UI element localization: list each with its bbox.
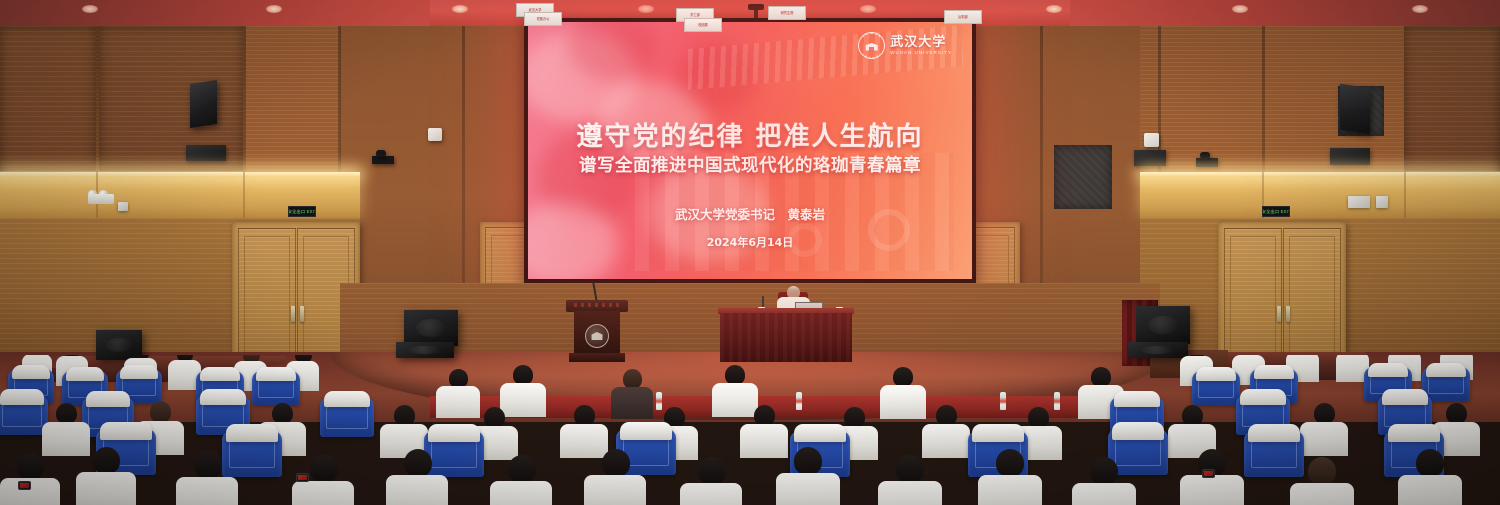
audience-member bbox=[560, 405, 608, 453]
security-camera-left bbox=[372, 156, 394, 164]
university-wordmark: 武汉大学 WUHAN UNIVERSITY bbox=[890, 36, 952, 55]
person-body bbox=[386, 475, 448, 505]
acoustic-panel-left bbox=[1054, 145, 1112, 209]
audience-member bbox=[584, 449, 646, 505]
person-head bbox=[1091, 367, 1111, 387]
person-head bbox=[93, 447, 120, 474]
emblem-gate-icon bbox=[591, 332, 604, 340]
person-head bbox=[936, 405, 957, 426]
person-body bbox=[1180, 475, 1244, 505]
name-card-label: 研究生院 bbox=[781, 11, 794, 16]
person-body bbox=[584, 475, 646, 505]
door-handle-left-a[interactable] bbox=[291, 306, 295, 322]
seat-headrest bbox=[794, 424, 846, 442]
lectern bbox=[566, 300, 628, 362]
audience-member bbox=[490, 455, 552, 505]
security-camera-right bbox=[1196, 158, 1218, 167]
name-card: 研究生院 bbox=[768, 6, 806, 20]
seat-headrest bbox=[12, 365, 50, 379]
lectern-university-emblem-icon bbox=[585, 324, 609, 348]
seat-headrest bbox=[86, 391, 130, 407]
name-card-label: 校团委 bbox=[698, 23, 708, 28]
door-handle-right-a[interactable] bbox=[1277, 306, 1281, 322]
person-body bbox=[1290, 483, 1354, 505]
person-body bbox=[1072, 483, 1136, 505]
wall-monitor-left bbox=[186, 145, 226, 161]
door-right-leaf-a[interactable] bbox=[1224, 228, 1282, 366]
person-body bbox=[776, 473, 840, 505]
audience-area bbox=[0, 355, 1500, 505]
seat-headrest bbox=[1426, 363, 1466, 377]
auditorium-photo: 安全出口 EXIT 安全出口 EXIT bbox=[0, 0, 1500, 505]
wall-panel-left bbox=[0, 26, 96, 171]
ceiling-left-shadow bbox=[0, 0, 430, 26]
smartphone-recording[interactable] bbox=[1202, 469, 1215, 478]
door-handle-right-b[interactable] bbox=[1286, 306, 1290, 322]
person-body bbox=[1300, 422, 1348, 456]
audience-member bbox=[922, 405, 970, 453]
person-body bbox=[922, 424, 970, 458]
name-card: 党委办公 bbox=[524, 12, 562, 26]
ceiling-downlight bbox=[1412, 5, 1428, 13]
ceiling-downlight bbox=[452, 5, 468, 13]
front-row-member bbox=[610, 369, 654, 415]
person-body bbox=[680, 483, 742, 505]
university-name-cn: 武汉大学 bbox=[890, 36, 952, 49]
ceiling-downlight bbox=[638, 5, 654, 13]
exit-sign-left[interactable]: 安全出口 EXIT bbox=[288, 206, 316, 217]
wall-monitor-far-right bbox=[1330, 148, 1370, 165]
person-head bbox=[1028, 407, 1049, 428]
wall-sensor-right bbox=[1144, 133, 1159, 147]
seat-headrest bbox=[1368, 363, 1408, 377]
wall-plate-right bbox=[1348, 196, 1370, 208]
audience-member bbox=[878, 455, 942, 505]
front-row-member bbox=[880, 367, 926, 415]
slide-title: 遵守党的纪律 把准人生航向 bbox=[528, 116, 972, 153]
slide-speaker: 武汉大学党委书记 黄泰岩 bbox=[528, 204, 972, 223]
audience-member bbox=[1168, 405, 1216, 453]
name-card-label: 后勤部 bbox=[958, 15, 968, 20]
led-highlight-left bbox=[0, 172, 360, 176]
seat-headrest bbox=[256, 367, 296, 381]
person-head bbox=[194, 451, 222, 479]
person-head bbox=[794, 447, 822, 475]
exit-sign-right[interactable]: 安全出口 EXIT bbox=[1262, 206, 1290, 217]
person-head bbox=[508, 455, 536, 483]
audience-member bbox=[1290, 457, 1354, 505]
ceiling-downlight bbox=[1232, 5, 1248, 13]
led-strip-right bbox=[1140, 172, 1500, 218]
seat-headrest bbox=[200, 389, 246, 405]
ceiling-downlight bbox=[266, 5, 282, 13]
person-body bbox=[490, 481, 552, 505]
person-head bbox=[1182, 405, 1203, 426]
university-seal-icon bbox=[858, 32, 885, 59]
seat-headrest bbox=[1254, 365, 1294, 379]
audience-member bbox=[76, 447, 136, 505]
person-head bbox=[56, 403, 77, 424]
seat-headrest bbox=[324, 391, 370, 407]
person-head bbox=[394, 405, 415, 426]
audience-member bbox=[740, 405, 788, 453]
led-highlight-right bbox=[1140, 172, 1500, 176]
emergency-light-left bbox=[88, 190, 114, 204]
audience-member bbox=[42, 403, 90, 451]
led-seam bbox=[1404, 172, 1406, 218]
seat-headrest bbox=[1248, 424, 1300, 442]
audience-member bbox=[1072, 457, 1136, 505]
wall-monitor-right bbox=[1134, 150, 1166, 166]
seat-headrest bbox=[1196, 367, 1236, 381]
person-body bbox=[878, 481, 942, 505]
wall-speaker-right-upper bbox=[1340, 84, 1370, 135]
audience-member bbox=[1398, 449, 1462, 505]
seat-headrest bbox=[226, 424, 278, 442]
wuhan-university-logo: 武汉大学 WUHAN UNIVERSITY bbox=[858, 32, 952, 59]
person-head bbox=[623, 369, 642, 389]
person-body bbox=[176, 477, 238, 505]
person-body bbox=[76, 472, 136, 505]
led-seam bbox=[243, 172, 245, 218]
audience-member bbox=[386, 449, 448, 505]
front-row-member bbox=[500, 365, 546, 413]
person-head bbox=[725, 365, 745, 385]
slide-canvas: 武汉大学 WUHAN UNIVERSITY 遵守党的纪律 把准人生航向 谱写全面… bbox=[528, 22, 972, 279]
ceiling-downlight bbox=[82, 5, 98, 13]
audience-member bbox=[380, 405, 428, 453]
seat-headrest bbox=[1388, 424, 1440, 442]
person-head bbox=[1416, 449, 1444, 477]
exit-sign-label: 安全出口 EXIT bbox=[288, 209, 316, 215]
person-head bbox=[513, 365, 533, 385]
door-handle-left-b[interactable] bbox=[300, 306, 304, 322]
head-table bbox=[718, 308, 854, 362]
seat-headrest bbox=[100, 422, 152, 440]
person-head bbox=[272, 403, 293, 424]
person-head bbox=[1314, 403, 1335, 424]
floor-subwoofer-right bbox=[1136, 306, 1190, 344]
door-left-leaf-a[interactable] bbox=[238, 228, 296, 366]
seat-headrest bbox=[972, 424, 1024, 442]
seat-headrest bbox=[200, 367, 240, 381]
person-head bbox=[484, 407, 505, 428]
audience-member bbox=[680, 457, 742, 505]
name-card: 后勤部 bbox=[944, 10, 982, 24]
audience-member bbox=[0, 453, 60, 505]
wall-speaker-left-upper bbox=[190, 80, 217, 128]
university-name-en: WUHAN UNIVERSITY bbox=[890, 51, 952, 55]
seat-headrest bbox=[120, 365, 158, 379]
person-body bbox=[611, 387, 653, 419]
person-head bbox=[574, 405, 595, 426]
person-head bbox=[698, 457, 726, 485]
person-head bbox=[844, 407, 865, 428]
led-display-screen: 武汉大学 WUHAN UNIVERSITY 遵守党的纪律 把准人生航向 谱写全面… bbox=[524, 18, 976, 283]
person-head bbox=[310, 455, 338, 483]
door-right-leaf-b[interactable] bbox=[1283, 228, 1341, 366]
exit-sign-label: 安全出口 EXIT bbox=[1262, 209, 1290, 215]
ceiling-downlight bbox=[1046, 5, 1062, 13]
seat-headrest bbox=[1114, 391, 1160, 407]
person-head bbox=[17, 453, 44, 480]
person-head bbox=[602, 449, 630, 477]
seal-gate-icon bbox=[864, 41, 879, 51]
person-head bbox=[896, 455, 924, 483]
wall-plate-left bbox=[118, 202, 128, 211]
seat-headrest bbox=[620, 422, 672, 440]
person-body bbox=[1398, 475, 1462, 505]
audience-member bbox=[1300, 403, 1348, 451]
seat-headrest bbox=[1112, 422, 1164, 440]
ceiling-downlight bbox=[860, 5, 876, 13]
floor-subwoofer-left bbox=[404, 310, 458, 346]
person-body bbox=[880, 385, 926, 419]
person-head bbox=[1308, 457, 1336, 485]
person-head bbox=[150, 401, 171, 423]
person-head bbox=[893, 367, 913, 387]
ceiling-right-shadow bbox=[1070, 0, 1500, 26]
name-card-label: 学工部 bbox=[690, 13, 700, 18]
person-head bbox=[404, 449, 432, 477]
smartphone-recording[interactable] bbox=[296, 473, 309, 482]
slide-subtitle: 谱写全面推进中国式现代化的珞珈青春篇章 bbox=[528, 152, 972, 177]
security-camera-left-lens bbox=[376, 150, 386, 157]
security-camera-right-lens bbox=[1200, 152, 1210, 159]
seat-headrest bbox=[1240, 389, 1286, 405]
wall-panel-right bbox=[1404, 26, 1500, 171]
seat-headrest bbox=[66, 367, 104, 381]
person-head bbox=[1446, 403, 1467, 424]
person-head bbox=[1090, 457, 1118, 485]
person-head bbox=[754, 405, 775, 426]
seat-headrest bbox=[428, 424, 480, 442]
person-body bbox=[292, 481, 354, 505]
audience-member bbox=[776, 447, 840, 505]
name-card: 校团委 bbox=[684, 18, 722, 32]
wall-sensor-left bbox=[428, 128, 442, 141]
slide-date: 2024年6月14日 bbox=[528, 234, 972, 250]
audience-member bbox=[176, 451, 238, 505]
audience-member bbox=[978, 449, 1042, 505]
person-head bbox=[996, 449, 1024, 477]
wall-plate-right-2 bbox=[1376, 196, 1388, 208]
smartphone-recording[interactable] bbox=[18, 481, 31, 490]
seat-headrest bbox=[0, 389, 44, 405]
name-card-label: 党委办公 bbox=[537, 17, 550, 22]
person-body bbox=[978, 475, 1042, 505]
seat-headrest bbox=[1382, 389, 1428, 405]
